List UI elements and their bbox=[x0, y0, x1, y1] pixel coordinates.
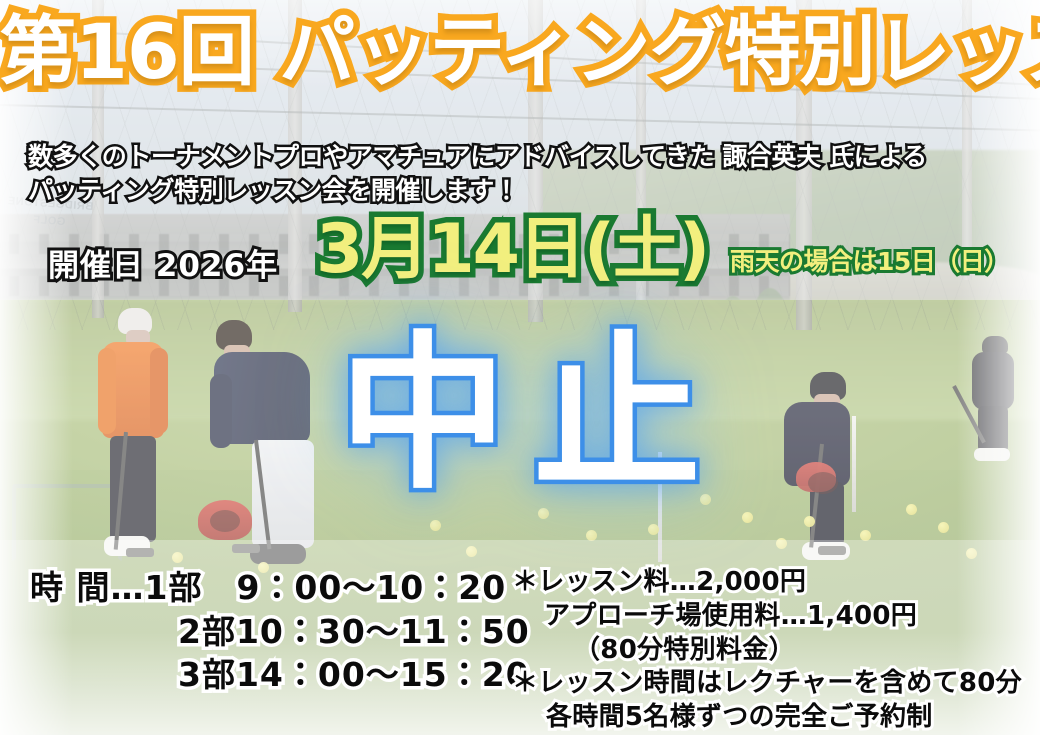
cancelled-stamp: 中止 bbox=[0, 330, 1040, 498]
rain-date-note: 雨天の場合は15日（日） bbox=[730, 242, 1009, 278]
poster-text-layer: 第16回 パッティング特別レッスン会 数多くのトーナメントプロやアマチュアにアド… bbox=[0, 0, 1040, 735]
date-prefix: 開催日 2026年 bbox=[48, 240, 278, 285]
fee-line-approach: アプローチ場使用料…1,400円 bbox=[512, 600, 1022, 634]
schedule-line-1: 時 間…1部 9：00〜10：20 bbox=[30, 566, 530, 610]
poster-lead-text: 数多くのトーナメントプロやアマチュアにアドバイスしてきた 諏合英夫 氏による パ… bbox=[28, 140, 1018, 208]
schedule-line-3: 3部14：00〜15：20 bbox=[30, 653, 530, 697]
schedule-block: 時 間…1部 9：00〜10：20 2部10：30〜11：50 3部14：00〜… bbox=[30, 566, 530, 697]
fee-line-special-rate: （80分特別料金） bbox=[512, 634, 1022, 668]
fee-line-lesson: ＊レッスン料…2,000円 bbox=[512, 566, 1022, 600]
fee-line-duration: ＊レッスン時間はレクチャーを含めて80分 bbox=[512, 667, 1022, 701]
poster-title: 第16回 パッティング特別レッスン会 bbox=[0, 14, 1040, 90]
lead-line-2: パッティング特別レッスン会を開催します！ bbox=[28, 174, 1018, 208]
event-poster: BRIDGESTONE GOLF 第16回 パッティング特別レッスン会 数多くの… bbox=[0, 0, 1040, 735]
date-main: 3月14日(土) bbox=[316, 216, 708, 284]
fee-line-reservation: 各時間5名様ずつの完全ご予約制 bbox=[512, 701, 1022, 735]
lead-line-1: 数多くのトーナメントプロやアマチュアにアドバイスしてきた 諏合英夫 氏による bbox=[28, 140, 1018, 174]
event-date-row: 開催日 2026年 3月14日(土) 雨天の場合は15日（日） bbox=[0, 222, 1040, 292]
schedule-line-2: 2部10：30〜11：50 bbox=[30, 610, 530, 654]
fees-block: ＊レッスン料…2,000円 アプローチ場使用料…1,400円 （80分特別料金）… bbox=[512, 566, 1022, 735]
